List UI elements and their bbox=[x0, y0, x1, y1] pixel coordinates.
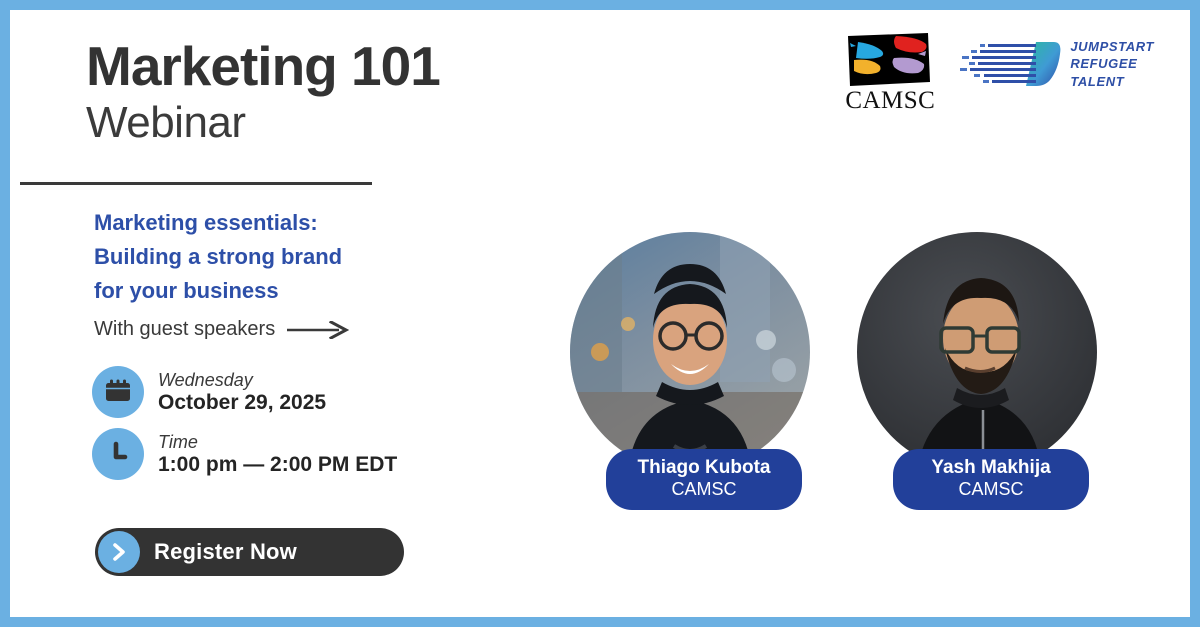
logo-group: CAMSC bbox=[844, 32, 1154, 113]
speaker-name: Yash Makhija bbox=[893, 457, 1089, 479]
register-now-label: Register Now bbox=[154, 539, 297, 565]
event-date-value: October 29, 2025 bbox=[158, 391, 326, 415]
speaker-card: Thiago Kubota CAMSC bbox=[570, 232, 810, 472]
speaker-photo-thiago bbox=[570, 232, 810, 472]
jumpstart-speedlines-icon bbox=[958, 38, 1063, 90]
title-block: Marketing 101 Webinar bbox=[86, 38, 440, 147]
event-time-value: 1:00 pm — 2:00 PM EDT bbox=[158, 453, 397, 477]
event-details: Wednesday October 29, 2025 Time 1:00 pm … bbox=[92, 366, 397, 490]
headline-line-1: Marketing essentials: bbox=[94, 206, 424, 240]
jumpstart-logo: JUMPSTART REFUGEE TALENT bbox=[958, 38, 1154, 90]
calendar-icon bbox=[92, 366, 144, 418]
jumpstart-line-1: JUMPSTART bbox=[1070, 38, 1154, 55]
speaker-photo-yash bbox=[857, 232, 1097, 472]
speaker-name-plate: Yash Makhija CAMSC bbox=[893, 449, 1089, 510]
chevron-right-icon bbox=[98, 531, 140, 573]
arrow-right-icon bbox=[287, 321, 349, 339]
speaker-card: Yash Makhija CAMSC bbox=[857, 232, 1097, 472]
camsc-logo: CAMSC bbox=[844, 32, 936, 113]
guest-speakers-label: With guest speakers bbox=[94, 318, 275, 341]
event-date-label: Wednesday bbox=[158, 370, 326, 390]
speaker-name-plate: Thiago Kubota CAMSC bbox=[606, 449, 802, 510]
speaker-org: CAMSC bbox=[606, 479, 802, 501]
jumpstart-line-3: TALENT bbox=[1070, 73, 1154, 90]
speaker-name: Thiago Kubota bbox=[606, 457, 802, 479]
event-date-row: Wednesday October 29, 2025 bbox=[92, 366, 397, 418]
jumpstart-line-2: REFUGEE bbox=[1070, 55, 1154, 72]
jumpstart-wordmark: JUMPSTART REFUGEE TALENT bbox=[1070, 38, 1154, 89]
event-time-row: Time 1:00 pm — 2:00 PM EDT bbox=[92, 428, 397, 480]
register-now-button[interactable]: Register Now bbox=[95, 528, 404, 576]
guest-speakers-row: With guest speakers bbox=[94, 318, 349, 341]
camsc-wordmark: CAMSC bbox=[844, 88, 936, 113]
headline-line-3: for your business bbox=[94, 274, 424, 308]
headline: Marketing essentials: Building a strong … bbox=[94, 206, 424, 308]
event-time-label: Time bbox=[158, 432, 397, 452]
speaker-org: CAMSC bbox=[893, 479, 1089, 501]
headline-line-2: Building a strong brand bbox=[94, 240, 424, 274]
poster-canvas: Marketing 101 Webinar Marketing essentia… bbox=[10, 10, 1190, 617]
clock-icon bbox=[92, 428, 144, 480]
page-title: Marketing 101 bbox=[86, 38, 440, 96]
page-subtitle: Webinar bbox=[86, 98, 440, 147]
camsc-hands-icon bbox=[844, 32, 936, 89]
title-divider bbox=[20, 182, 372, 185]
